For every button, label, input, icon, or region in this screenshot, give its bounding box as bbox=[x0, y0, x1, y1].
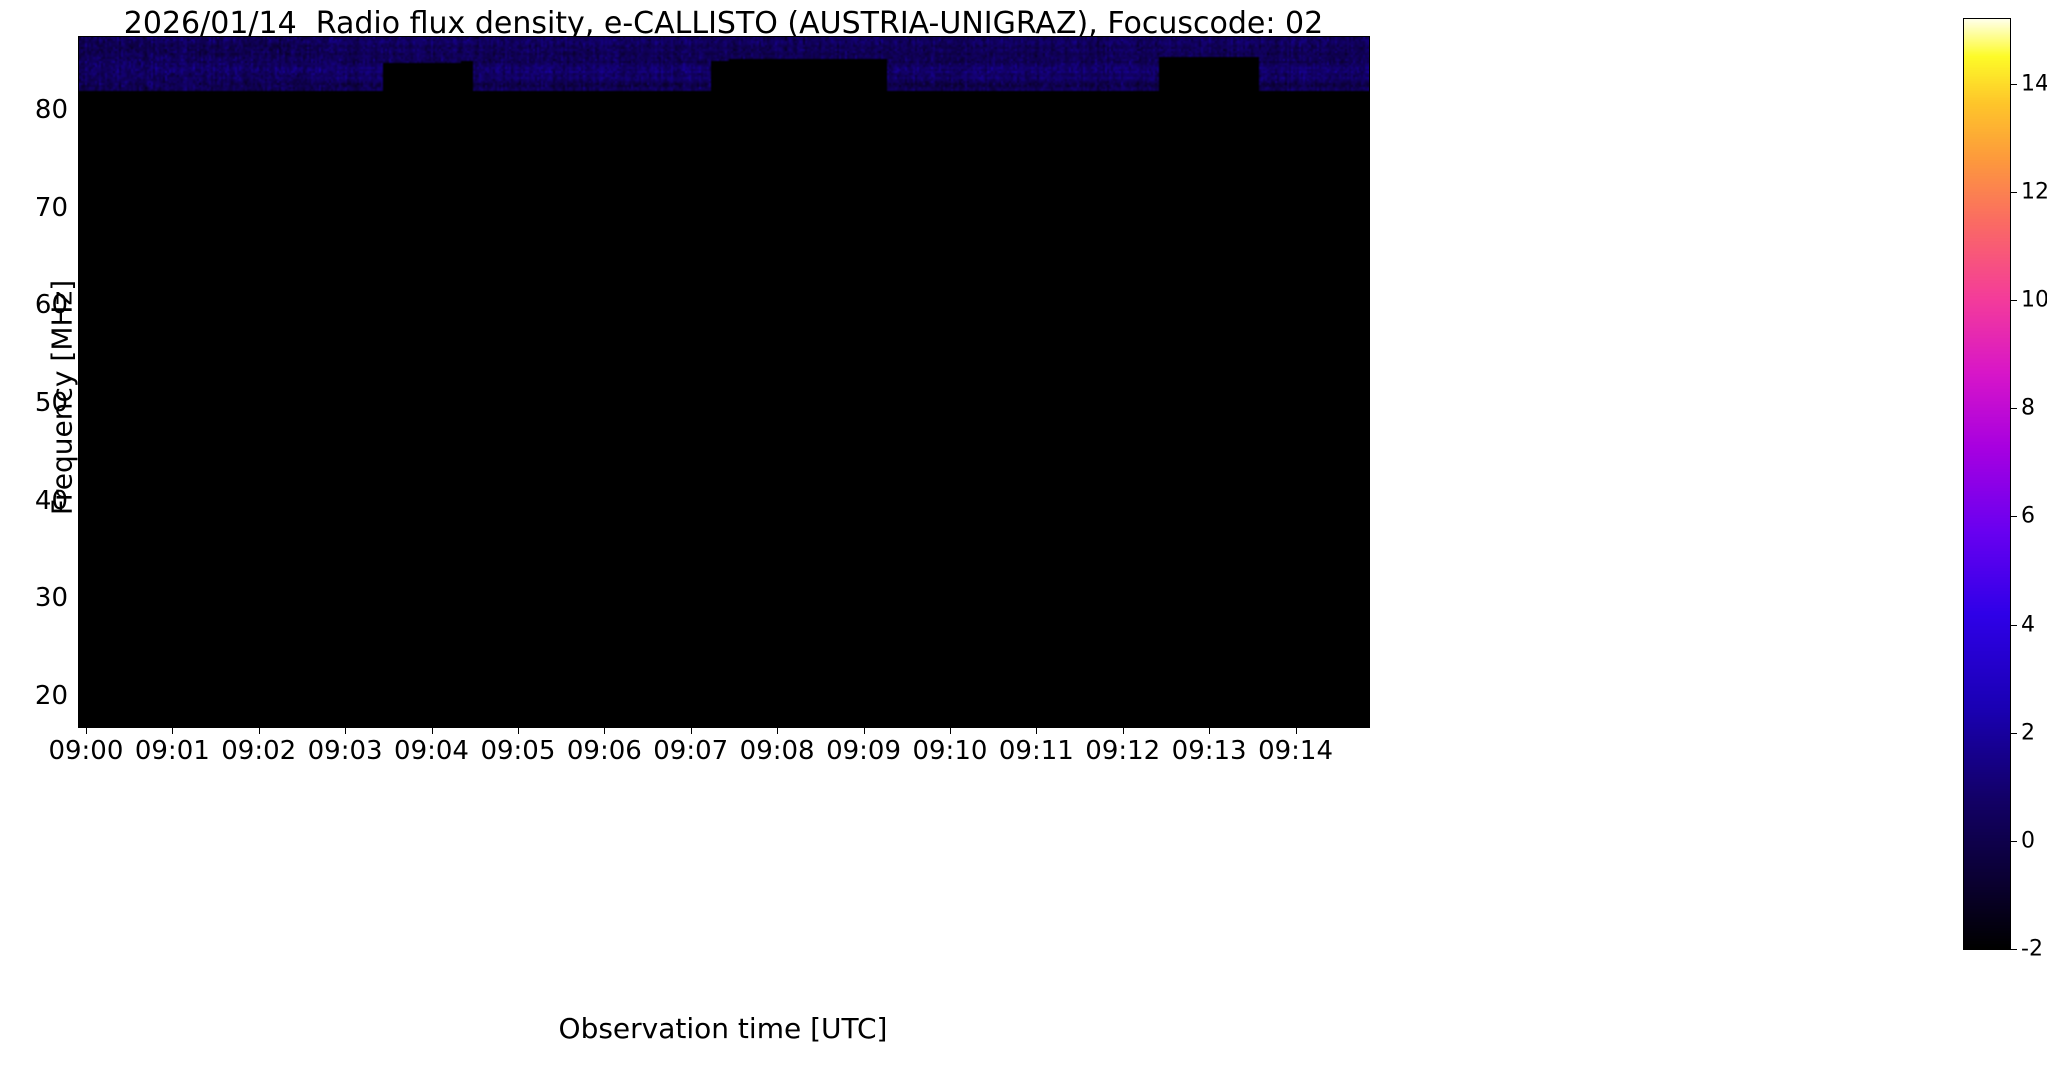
colorbar-tick-label-4: 4 bbox=[2021, 612, 2035, 637]
colorbar-tick-mark bbox=[2010, 733, 2017, 734]
colorbar-tick-label-neg2: -2 bbox=[2021, 937, 2043, 962]
y-tick-mark bbox=[79, 403, 86, 404]
x-tick-mark bbox=[1296, 727, 1297, 734]
x-tick-mark bbox=[950, 727, 951, 734]
x-tick-mark bbox=[432, 727, 433, 734]
x-tick-label-09-00: 09:00 bbox=[48, 736, 123, 766]
x-tick-label-09-10: 09:10 bbox=[912, 736, 987, 766]
colorbar-tick-mark bbox=[2010, 516, 2017, 517]
y-tick-mark bbox=[79, 598, 86, 599]
colorbar-tick-mark bbox=[2010, 192, 2017, 193]
y-tick-mark bbox=[79, 696, 86, 697]
figure-root: 2026/01/14 Radio flux density, e-CALLIST… bbox=[0, 0, 2047, 1067]
colorbar-tick-label-14: 14 bbox=[2021, 71, 2047, 96]
colorbar-tick-label-8: 8 bbox=[2021, 396, 2035, 421]
x-tick-mark bbox=[518, 727, 519, 734]
y-tick-mark bbox=[79, 208, 86, 209]
x-tick-label-09-01: 09:01 bbox=[135, 736, 210, 766]
x-tick-label-09-05: 09:05 bbox=[480, 736, 555, 766]
colorbar-tick-label-10: 10 bbox=[2021, 288, 2047, 313]
x-tick-label-09-11: 09:11 bbox=[999, 736, 1074, 766]
x-tick-mark bbox=[864, 727, 865, 734]
x-tick-label-09-03: 09:03 bbox=[308, 736, 383, 766]
x-tick-label-09-02: 09:02 bbox=[221, 736, 296, 766]
colorbar-tick-mark bbox=[2010, 408, 2017, 409]
x-tick-label-09-12: 09:12 bbox=[1085, 736, 1160, 766]
colorbar-gradient bbox=[1964, 19, 2010, 949]
y-tick-mark bbox=[79, 501, 86, 502]
x-tick-mark bbox=[86, 727, 87, 734]
colorbar-tick-mark bbox=[2010, 625, 2017, 626]
spectrogram-plot[interactable] bbox=[78, 36, 1370, 728]
x-tick-label-09-04: 09:04 bbox=[394, 736, 469, 766]
colorbar-tick-label-0: 0 bbox=[2021, 828, 2035, 853]
x-tick-mark bbox=[1123, 727, 1124, 734]
y-axis-title: Frequency [MHz] bbox=[46, 48, 79, 748]
colorbar[interactable] bbox=[1963, 18, 2011, 950]
x-tick-mark bbox=[172, 727, 173, 734]
colorbar-tick-label-6: 6 bbox=[2021, 504, 2035, 529]
x-tick-label-09-13: 09:13 bbox=[1172, 736, 1247, 766]
colorbar-tick-mark bbox=[2010, 84, 2017, 85]
x-tick-mark bbox=[1036, 727, 1037, 734]
colorbar-tick-mark bbox=[2010, 949, 2017, 950]
colorbar-tick-label-12: 12 bbox=[2021, 180, 2047, 205]
x-tick-mark bbox=[345, 727, 346, 734]
x-tick-label-09-14: 09:14 bbox=[1258, 736, 1333, 766]
x-tick-mark bbox=[1209, 727, 1210, 734]
x-tick-label-09-07: 09:07 bbox=[653, 736, 728, 766]
x-axis-title: Observation time [UTC] bbox=[78, 1012, 1368, 1045]
x-tick-mark bbox=[259, 727, 260, 734]
colorbar-tick-mark bbox=[2010, 841, 2017, 842]
y-tick-mark bbox=[79, 305, 86, 306]
colorbar-tick-mark bbox=[2010, 300, 2017, 301]
x-tick-mark bbox=[691, 727, 692, 734]
x-tick-label-09-09: 09:09 bbox=[826, 736, 901, 766]
spectrogram-image bbox=[79, 37, 1369, 727]
x-tick-label-09-08: 09:08 bbox=[740, 736, 815, 766]
x-tick-label-09-06: 09:06 bbox=[567, 736, 642, 766]
colorbar-tick-label-2: 2 bbox=[2021, 720, 2035, 745]
x-tick-mark bbox=[777, 727, 778, 734]
y-tick-mark bbox=[79, 110, 86, 111]
x-tick-mark bbox=[604, 727, 605, 734]
